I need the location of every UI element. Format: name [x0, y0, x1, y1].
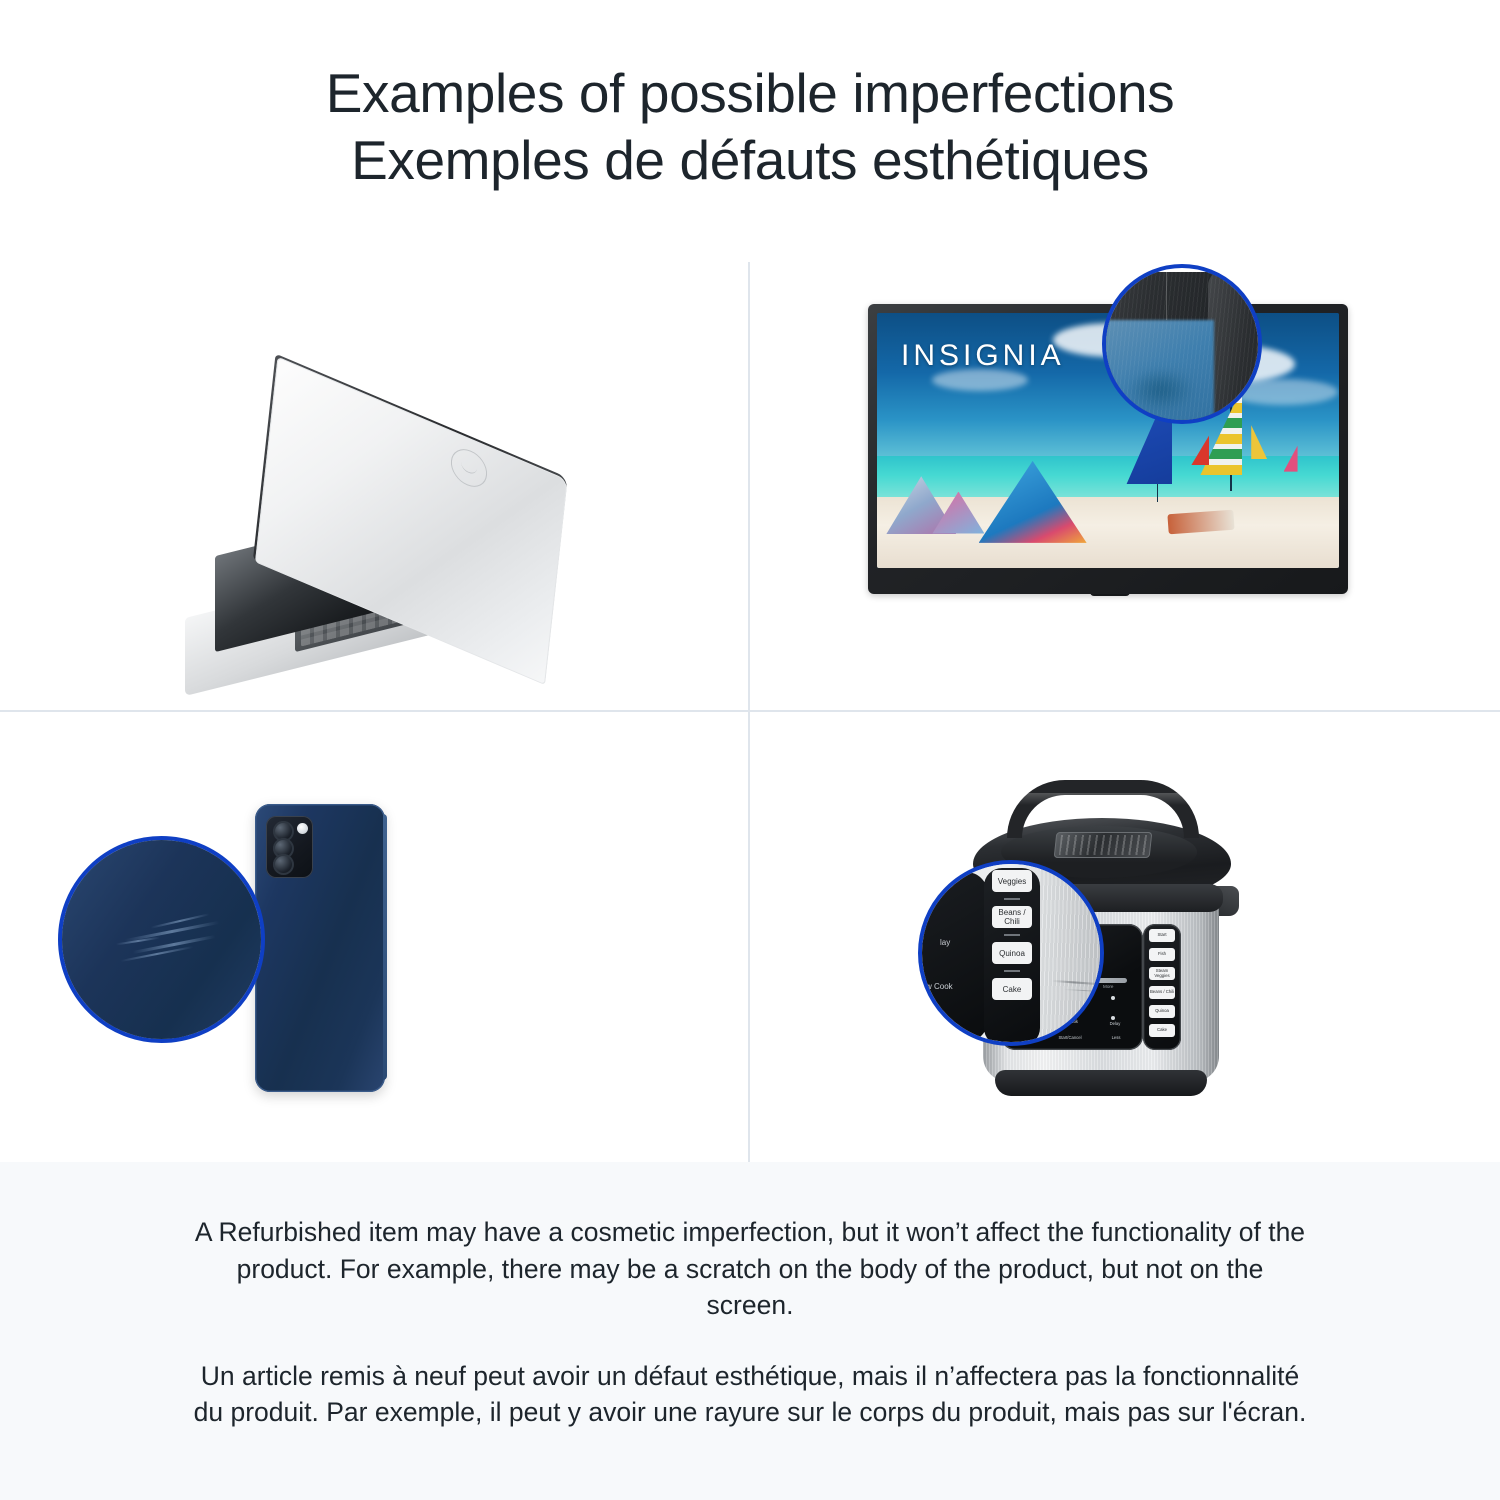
cooker-lid-handle	[1007, 780, 1199, 838]
panel-cooker: INSIGNIA 8:00 Less Normal More Keep Warm…	[750, 712, 1500, 1162]
cooker-base	[995, 1070, 1207, 1096]
cooker-zoom-btn-beans[interactable]: Beans / Chili	[992, 906, 1032, 928]
cooker-zoom-steel-texture	[1040, 864, 1100, 1042]
page-header: Examples of possible imperfections Exemp…	[0, 0, 1500, 262]
camera-lens-icon	[273, 854, 294, 875]
cooker-btn-cake[interactable]: Cake	[1149, 1024, 1175, 1037]
cooker-indicator-dot	[1111, 996, 1115, 1000]
infographic-page: Examples of possible imperfections Exemp…	[0, 0, 1500, 1500]
cooker-btn-fish[interactable]: Fish	[1149, 948, 1175, 961]
cooker-btn-start[interactable]: Start	[1149, 929, 1175, 942]
panel-laptop	[0, 262, 750, 712]
cooker-zoom-separator	[1004, 934, 1020, 936]
cooker-right-button-strip: Start Fish Steam Veggies Beans / Chili Q…	[1143, 924, 1181, 1050]
phone-side-rim	[383, 814, 387, 1080]
cooker-btn-quinoa[interactable]: Quinoa	[1149, 1005, 1175, 1018]
tv-zoom-texture	[1104, 266, 1260, 422]
cooker-zoom-label-delay: lay	[940, 938, 950, 947]
cooker-slider-label-more: More	[1103, 984, 1113, 989]
cooker-zoom-separator	[1004, 970, 1020, 972]
panel-tv: INSIGNIA	[750, 262, 1500, 712]
page-title-english: Examples of possible imperfections	[326, 60, 1174, 127]
tv-zoom-surface	[1104, 266, 1260, 422]
tv-brand-logo: INSIGNIA	[901, 339, 1065, 373]
cooker-zoom-panel: lay w Cook	[918, 872, 988, 1042]
cooker-zoom-btn-quinoa[interactable]: Quinoa	[992, 942, 1032, 964]
camera-flash-icon	[297, 823, 308, 834]
footer-paragraph-english: A Refurbished item may have a cosmetic i…	[190, 1214, 1310, 1324]
cooker-btn-veggies[interactable]: Steam Veggies	[1149, 967, 1175, 980]
cooker-btn-beans[interactable]: Beans / Chili	[1149, 986, 1175, 999]
product-example-grid: INSIGNIA	[0, 262, 1500, 1162]
cooker-zoom-separator	[1004, 898, 1020, 900]
footer-paragraph-french: Un article remis à neuf peut avoir un dé…	[190, 1358, 1310, 1431]
magnifier-circle-cooker: lay w Cook Veggies Beans / Chili Quinoa …	[918, 860, 1104, 1046]
cooker-indicator-dot	[1111, 1016, 1115, 1020]
tv-scene-sea	[877, 456, 1339, 499]
page-footer: A Refurbished item may have a cosmetic i…	[0, 1162, 1500, 1500]
phone-zoom-surface	[62, 840, 261, 1039]
cooker-zoom-label-slowcook: w Cook	[926, 982, 953, 991]
laptop-illustration	[175, 347, 575, 627]
phone-body	[255, 804, 385, 1092]
cooker-zoom-button-strip: Veggies Beans / Chili Quinoa Cake	[984, 868, 1040, 1046]
cooker-zoom-btn-veggies[interactable]: Veggies	[992, 870, 1032, 892]
magnifier-circle-tv	[1102, 264, 1262, 424]
cooker-button-delay[interactable]: Delay	[1101, 1022, 1129, 1027]
cooker-button-slowcook2[interactable]: Less	[1101, 1036, 1131, 1041]
phone-camera-module	[266, 816, 313, 878]
phone-illustration	[255, 804, 495, 1134]
cooker-zoom-surface: lay w Cook Veggies Beans / Chili Quinoa …	[922, 864, 1100, 1042]
cooker-zoom-btn-cake[interactable]: Cake	[992, 978, 1032, 1000]
magnifier-circle-phone	[58, 836, 265, 1043]
panel-phone	[0, 712, 750, 1162]
page-title-french: Exemples de défauts esthétiques	[351, 127, 1149, 194]
